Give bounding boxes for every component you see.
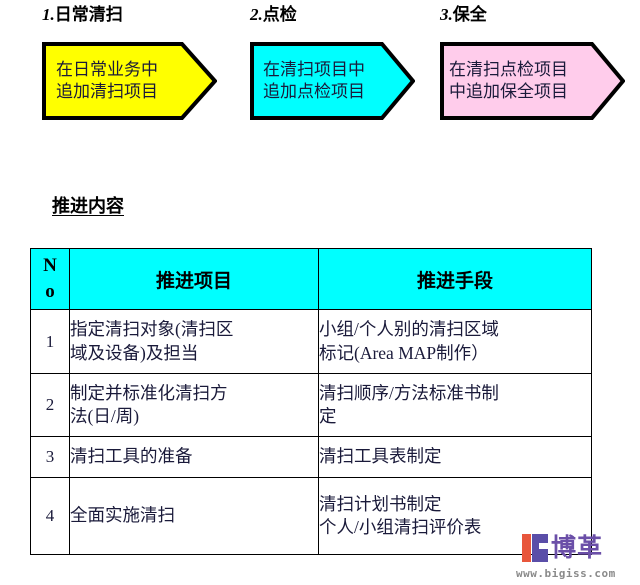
table-header-no-line2: o <box>45 279 55 305</box>
row-2-no: 2 <box>31 374 70 437</box>
flow-chevron-1-text: 在日常业务中 追加清扫项目 <box>42 42 217 120</box>
row-3-no: 3 <box>31 437 70 478</box>
flow-step-3-heading: 3.保全 <box>440 0 625 25</box>
table-header-row: N o 推进项目 推进手段 <box>31 249 592 310</box>
row-4-no: 4 <box>31 478 70 555</box>
row-2-means-line2: 定 <box>319 405 591 428</box>
flow-chevron-3-line1: 在清扫点检项目 <box>449 59 625 81</box>
table-row: 4 全面实施清扫 清扫计划书制定 个人/小组清扫评价表 <box>31 478 592 555</box>
flow-step-2: 2.点检 在清扫项目中 追加点检项目 <box>250 0 415 120</box>
row-2-item-line2: 法(日/周) <box>70 405 318 428</box>
flow-step-1-number: 1. <box>42 5 55 24</box>
flow-step-3-number: 3. <box>440 5 453 24</box>
row-1-means: 小组/个人别的清扫区域 标记(Area MAP制作） <box>319 310 592 374</box>
row-2-item: 制定并标准化清扫方 法(日/周) <box>70 374 319 437</box>
row-2-item-line1: 制定并标准化清扫方 <box>70 382 318 405</box>
row-4-means-line2: 个人/小组清扫评价表 <box>319 516 591 539</box>
row-1-item: 指定清扫对象(清扫区 域及设备)及担当 <box>70 310 319 374</box>
row-4-means-line1: 清扫计划书制定 <box>319 493 591 516</box>
row-1-item-line1: 指定清扫对象(清扫区 <box>70 318 318 341</box>
flow-chevron-2-text: 在清扫项目中 追加点检项目 <box>250 42 415 120</box>
flow-chevron-1-line2: 追加清扫项目 <box>56 81 217 103</box>
table-row: 1 指定清扫对象(清扫区 域及设备)及担当 小组/个人别的清扫区域 标记(Are… <box>31 310 592 374</box>
flow-step-1-heading: 1.日常清扫 <box>42 0 217 25</box>
watermark-url: www.bigiss.com <box>516 567 616 580</box>
flow-step-2-label: 点检 <box>263 5 297 24</box>
row-4-item: 全面实施清扫 <box>70 478 319 555</box>
row-1-no: 1 <box>31 310 70 374</box>
table-header-means: 推进手段 <box>319 249 592 310</box>
flow-chevron-3: 在清扫点检项目 中追加保全项目 <box>440 42 625 120</box>
flow-step-2-heading: 2.点检 <box>250 0 415 25</box>
row-2-means-line1: 清扫顺序/方法标准书制 <box>319 382 591 405</box>
table-row: 3 清扫工具的准备 清扫工具表制定 <box>31 437 592 478</box>
flow-chevron-1: 在日常业务中 追加清扫项目 <box>42 42 217 120</box>
row-4-means: 清扫计划书制定 个人/小组清扫评价表 <box>319 478 592 555</box>
promotion-content-table: N o 推进项目 推进手段 1 指定清扫对象(清扫区 域及设备)及担当 小组/个… <box>30 248 592 555</box>
flow-step-2-number: 2. <box>250 5 263 24</box>
no-stack: N o <box>31 253 69 304</box>
flow-chevron-3-text: 在清扫点检项目 中追加保全项目 <box>440 42 625 120</box>
row-4-item-line1: 全面实施清扫 <box>70 504 318 527</box>
table-row: 2 制定并标准化清扫方 法(日/周) 清扫顺序/方法标准书制 定 <box>31 374 592 437</box>
row-3-item: 清扫工具的准备 <box>70 437 319 478</box>
row-1-means-line2: 标记(Area MAP制作） <box>319 342 591 365</box>
row-3-means-line1: 清扫工具表制定 <box>319 445 591 468</box>
table-header: N o 推进项目 推进手段 <box>31 249 592 310</box>
row-2-means: 清扫顺序/方法标准书制 定 <box>319 374 592 437</box>
flow-step-1: 1.日常清扫 在日常业务中 追加清扫项目 <box>42 0 217 120</box>
flow-chevron-3-line2: 中追加保全项目 <box>449 81 625 103</box>
flow-step-3-label: 保全 <box>453 5 487 24</box>
table-header-no: N o <box>31 249 70 310</box>
flow-chevron-2: 在清扫项目中 追加点检项目 <box>250 42 415 120</box>
flow-step-1-label: 日常清扫 <box>55 5 123 24</box>
row-1-means-line1: 小组/个人别的清扫区域 <box>319 318 591 341</box>
row-3-item-line1: 清扫工具的准备 <box>70 445 318 468</box>
table-body: 1 指定清扫对象(清扫区 域及设备)及担当 小组/个人别的清扫区域 标记(Are… <box>31 310 592 555</box>
section-title: 推进内容 <box>52 192 124 218</box>
row-3-means: 清扫工具表制定 <box>319 437 592 478</box>
flow-chevron-2-line1: 在清扫项目中 <box>263 59 415 81</box>
table-header-no-line1: N <box>43 253 57 279</box>
process-flow-section: 1.日常清扫 在日常业务中 追加清扫项目 2.点检 在清扫项目中 追加点检项目 <box>0 0 640 175</box>
flow-chevron-1-line1: 在日常业务中 <box>56 59 217 81</box>
flow-chevron-2-line2: 追加点检项目 <box>263 81 415 103</box>
table-header-item: 推进项目 <box>70 249 319 310</box>
flow-step-3: 3.保全 在清扫点检项目 中追加保全项目 <box>440 0 625 120</box>
row-1-item-line2: 域及设备)及担当 <box>70 342 318 365</box>
